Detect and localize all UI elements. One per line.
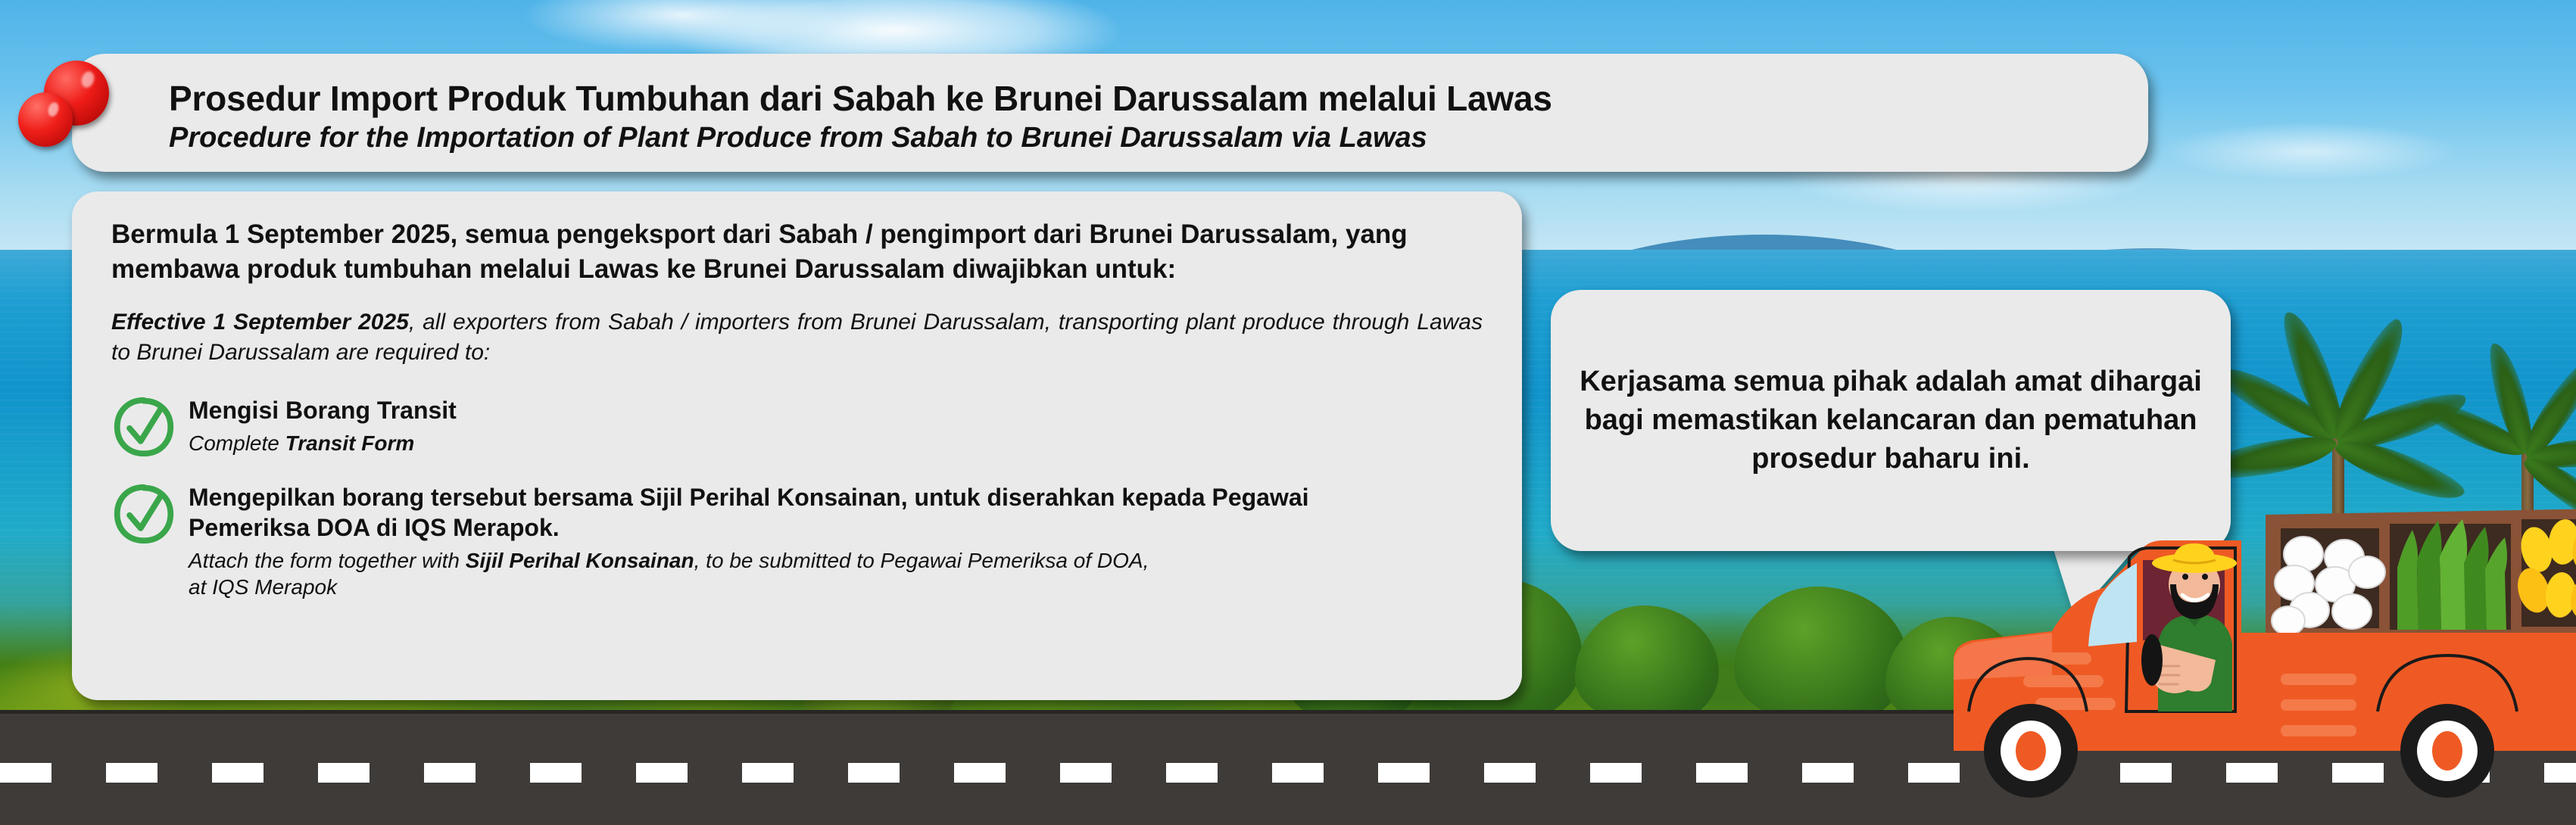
list-item: Mengepilkan borang tersebut bersama Siji… <box>111 480 1483 600</box>
orange-pickup-truck-illustration <box>1938 484 2576 810</box>
list-item-label-ms: Mengisi Borang Transit <box>189 396 457 426</box>
list-item-en-plain: Complete <box>189 431 285 455</box>
page-subtitle: Procedure for the Importation of Plant P… <box>169 122 2148 155</box>
list-item-label-en: Complete Transit Form <box>189 430 457 456</box>
main-content-card: Bermula 1 September 2025, semua pengeksp… <box>72 191 1522 700</box>
list-item-body: Mengepilkan borang tersebut bersama Siji… <box>189 480 1309 600</box>
pushpin-group <box>11 36 154 180</box>
list-item-en-bold: Sijil Perihal Konsainan <box>466 549 694 572</box>
green-check-circle-icon <box>111 394 176 463</box>
intro-effective-date-en: Effective 1 September 2025 <box>111 310 409 335</box>
intro-paragraph-malay: Bermula 1 September 2025, semua pengeksp… <box>111 217 1483 286</box>
intro-effective-date-ms: Bermula 1 September 2025, <box>111 219 457 249</box>
list-item-en-plain: Attach the form together with <box>189 549 466 572</box>
pushpin-secondary-icon <box>18 92 73 147</box>
list-item-en-bold: Transit Form <box>285 431 415 455</box>
list-item-label-ms: Mengepilkan borang tersebut bersama Siji… <box>189 483 1309 543</box>
page-title: Prosedur Import Produk Tumbuhan dari Sab… <box>169 79 2148 119</box>
poster-canvas: Prosedur Import Produk Tumbuhan dari Sab… <box>0 0 2576 825</box>
cargo-crate <box>2266 509 2576 647</box>
green-check-circle-icon <box>111 481 176 550</box>
list-item-label-en: Attach the form together with Sijil Peri… <box>189 547 1150 601</box>
intro-paragraph-english: Effective 1 September 2025, all exporter… <box>111 307 1483 367</box>
list-item-body: Mengisi Borang Transit Complete Transit … <box>189 393 457 456</box>
speech-bubble-text: Kerjasama semua pihak adalah amat diharg… <box>1576 363 2205 478</box>
title-card: Prosedur Import Produk Tumbuhan dari Sab… <box>72 54 2148 172</box>
requirements-checklist: Mengisi Borang Transit Complete Transit … <box>111 393 1483 600</box>
list-item: Mengisi Borang Transit Complete Transit … <box>111 393 1483 463</box>
